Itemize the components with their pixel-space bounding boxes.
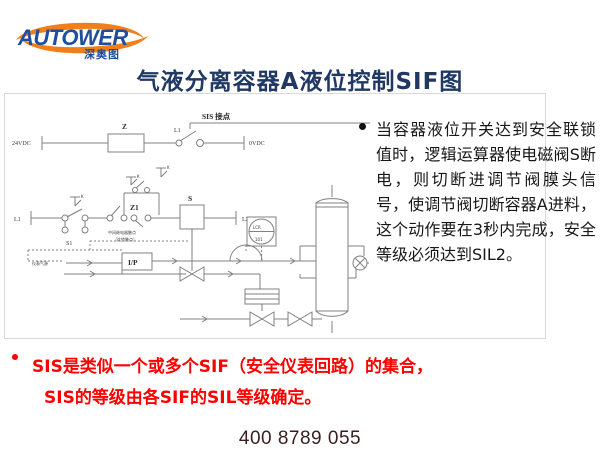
autower-logo: AUTOWER 深奥图 [12, 14, 152, 62]
label-24vdc: 24VDC [12, 141, 31, 147]
valve-actuator [245, 289, 279, 304]
label-l1-top: L1 [174, 128, 181, 134]
label-k-top: K [167, 165, 170, 170]
controller-lcr-101: LCR 101 [247, 217, 276, 261]
red-bullet-dot [12, 354, 18, 360]
solenoid-valve-s [180, 205, 204, 229]
label-sis-contact: SIS 接点 [202, 111, 231, 121]
label-lcr: LCR [253, 225, 261, 230]
logo-wordmark-cn: 深奥图 [84, 47, 120, 61]
paragraph-bullet [359, 123, 366, 130]
switch-s1: S1 K [62, 194, 88, 247]
label-k-z1: K [137, 174, 140, 179]
k-marker-top: K [156, 165, 170, 177]
label-z1: Z1 [130, 203, 139, 212]
red-line-2: SIS的等级由各SIF的SIL等级确定。 [44, 383, 590, 414]
bottom-valves [180, 312, 322, 326]
red-summary-block: SIS是类似一个或多个SIF（安全仪表回路）的集合， SIS的等级由各SIF的S… [10, 352, 590, 414]
label-k-s1: K [81, 194, 84, 199]
note-relay-contact: 中间继电器触点 [108, 229, 136, 235]
red-line-1: SIS是类似一个或多个SIF（安全仪表回路）的集合， [32, 352, 590, 383]
label-lcr-num: 101 [255, 237, 263, 242]
page-title: 气液分离容器A液位控制SIF图 [0, 62, 600, 96]
slide: AUTOWER 深奥图 气液分离容器A液位控制SIF图 24VDC Z [0, 0, 600, 464]
relay-contacts-z1: K Z1 中间继电器触点 （连锁触点） [107, 174, 159, 242]
level-switch-element [353, 256, 370, 270]
label-l1: L1 [14, 217, 21, 223]
label-relay-z: Z [122, 122, 127, 131]
label-s1: S1 [66, 241, 72, 247]
note-relay-contact-2: （连锁触点） [113, 236, 137, 242]
footer-phone: 400 8789 055 [0, 428, 600, 450]
relay-coil-z [108, 134, 144, 152]
label-solenoid-s: S [188, 194, 192, 203]
label-ip: I/P [128, 258, 138, 267]
label-0vdc: 0VDC [249, 141, 265, 147]
dc-control-circuit: 24VDC Z L1 0VDC SIS 接点 [12, 111, 370, 177]
p-and-id-diagram: 24VDC Z L1 0VDC SIS 接点 [4, 93, 370, 337]
logo-wordmark: AUTOWER [17, 25, 128, 50]
explanation-paragraph: 当容器液位开关达到安全联锁值时，逻辑运算器使电磁阀S断电，则切断进调节阀膜头信号… [376, 117, 596, 267]
